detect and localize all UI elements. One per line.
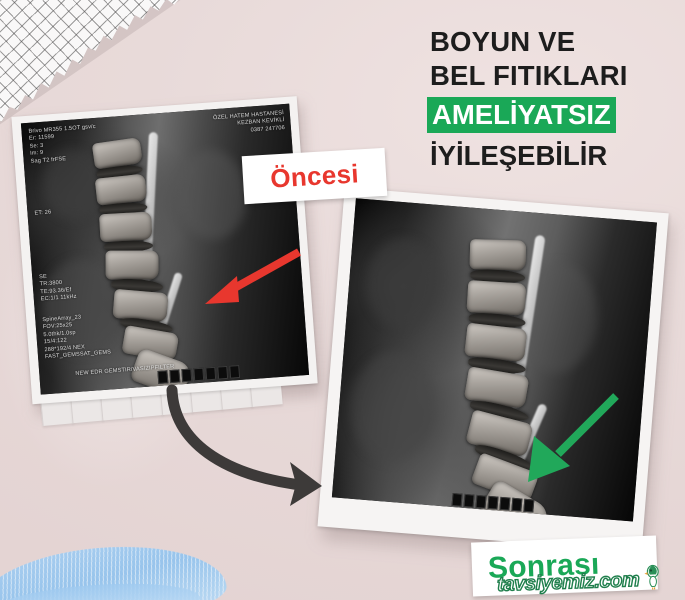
headline-line-4: İYİLEŞEBİLİR — [430, 139, 680, 172]
mri-sequence-text: SE TR:3800 TE:93.36/Ef EC:1/1 11kHz — [39, 272, 77, 304]
poster-canvas: Brivo MR355 1.5OT gsv/c Er: 11599 Se: 3 … — [0, 0, 685, 600]
vertebra — [99, 212, 152, 243]
after-photo-frame — [317, 187, 668, 552]
vertebra — [95, 174, 148, 206]
headline-block: BOYUN VE BEL FITIKLARI AMELİYATSIZ İYİLE… — [430, 26, 680, 172]
after-photo-card — [316, 187, 673, 567]
mri-et-text: ET: 26 — [34, 209, 51, 218]
curved-transition-arrow — [150, 378, 350, 513]
vertebra — [112, 289, 168, 322]
vertebra — [464, 323, 527, 363]
vertebra — [469, 239, 526, 271]
before-label-badge: Öncesi — [242, 148, 388, 204]
bird-logo-icon — [643, 563, 664, 590]
before-label-text: Öncesi — [270, 160, 360, 191]
vertebra — [466, 280, 526, 316]
mri-parameter-text: SpineArray_23 FOV:25x25 5.0thk/1.0sp 15/… — [42, 312, 111, 361]
red-arrow-herniation-marker — [195, 246, 303, 318]
headline-highlight: AMELİYATSIZ — [427, 97, 616, 133]
vertebra — [106, 250, 159, 279]
headline-line-1: BOYUN VE — [430, 26, 680, 58]
green-arrow-healed-marker — [512, 392, 624, 492]
watermark: tavsiyemiz.com — [497, 563, 664, 595]
watermark-text: tavsiyemiz.com — [497, 570, 640, 595]
mri-header-left-text: Brivo MR355 1.5OT gsv/c Er: 11599 Se: 3 … — [28, 124, 98, 166]
headline-line-2: BEL FITIKLARI — [430, 60, 680, 92]
